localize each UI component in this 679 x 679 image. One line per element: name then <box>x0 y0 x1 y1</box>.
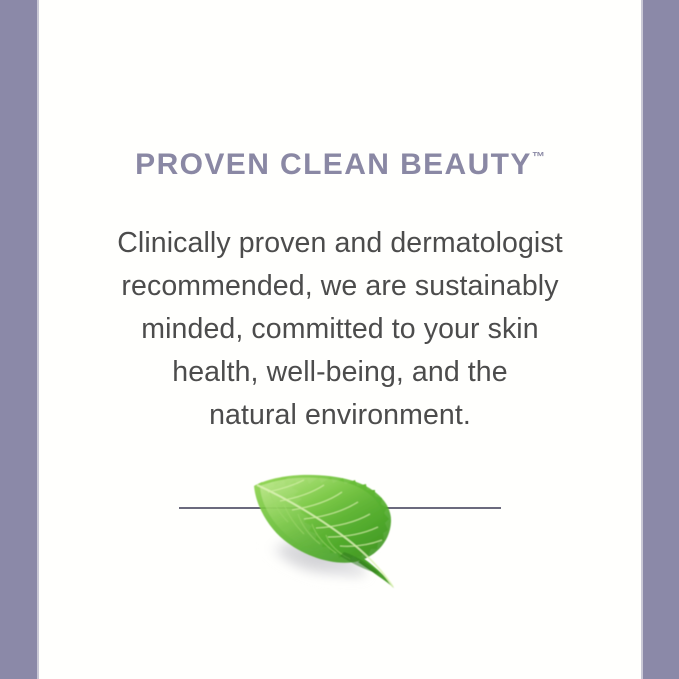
trademark-symbol: ™ <box>532 149 545 164</box>
content-card: PROVEN CLEAN BEAUTY™ Clinically proven a… <box>39 0 641 679</box>
body-line: health, well-being, and the <box>67 351 613 394</box>
right-accent-bar <box>643 0 679 679</box>
body-line: natural environment. <box>67 394 613 437</box>
leaf-icon <box>244 460 414 600</box>
body-line: recommended, we are sustainably <box>67 265 613 308</box>
poster-canvas: PROVEN CLEAN BEAUTY™ Clinically proven a… <box>0 0 679 679</box>
right-accent-bar-seam <box>641 0 643 679</box>
leaf-emblem-group <box>39 440 641 640</box>
page-title-text: PROVEN CLEAN BEAUTY <box>135 148 532 181</box>
left-accent-bar <box>0 0 37 679</box>
body-paragraph: Clinically proven and dermatologist reco… <box>67 222 613 437</box>
page-title: PROVEN CLEAN BEAUTY™ <box>39 150 641 180</box>
leaf-graphic <box>244 460 414 600</box>
body-line: minded, committed to your skin <box>67 308 613 351</box>
body-line: Clinically proven and dermatologist <box>67 222 613 265</box>
